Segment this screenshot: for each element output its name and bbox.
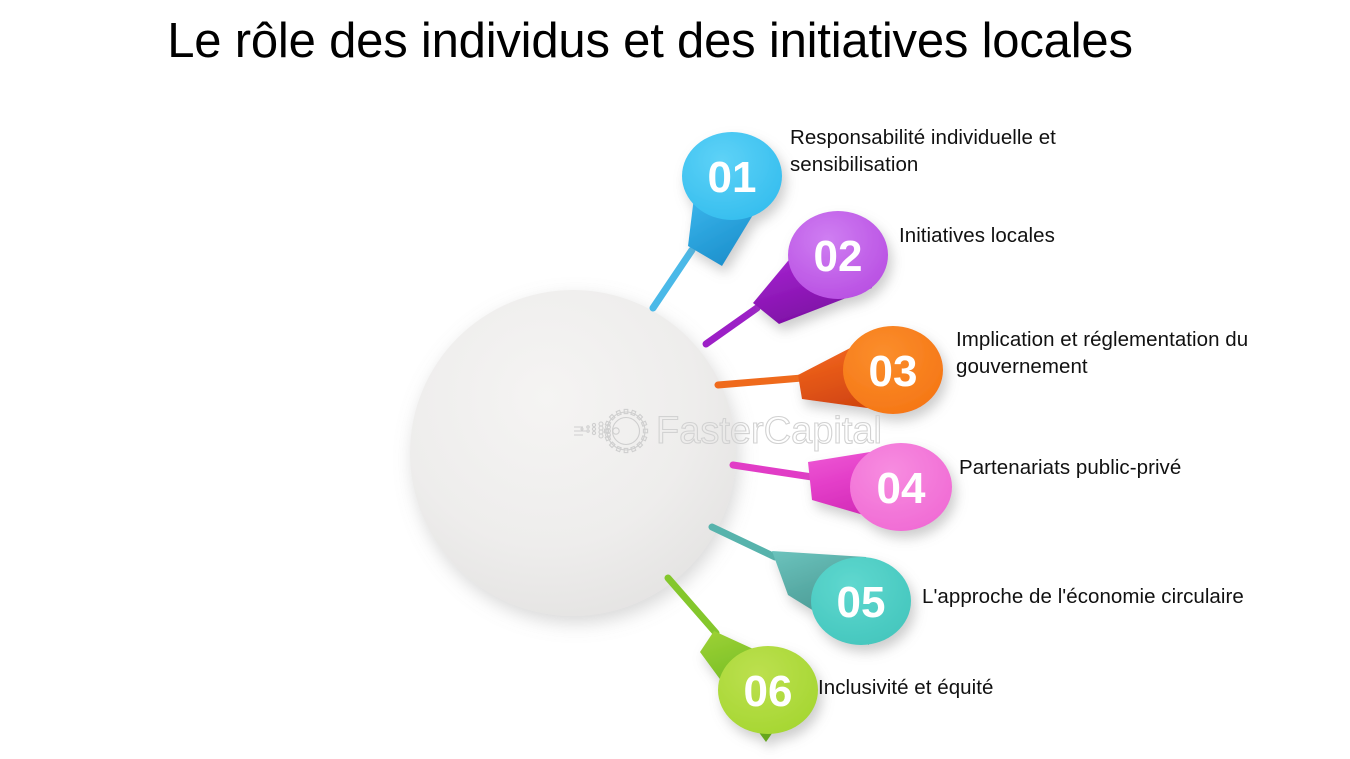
- callout-label-3: Implication et réglementation du gouvern…: [956, 326, 1316, 380]
- connector-line-3: [718, 378, 802, 385]
- cone-number-2: 02: [814, 232, 863, 281]
- callout-label-2: Initiatives locales: [899, 222, 1229, 249]
- callout-label-6: Inclusivité et équité: [818, 674, 1148, 701]
- central-circle: [410, 290, 736, 616]
- connector-line-6: [668, 578, 716, 633]
- connector-line-4: [733, 465, 812, 477]
- callout-label-5: L'approche de l'économie circulaire: [922, 583, 1322, 610]
- callout-label-4: Partenariats public-privé: [959, 454, 1299, 481]
- connector-line-1: [653, 250, 692, 308]
- cone-number-6: 06: [744, 667, 793, 716]
- connector-line-5: [712, 527, 775, 557]
- cone-number-1: 01: [708, 153, 757, 202]
- connector-line-2: [706, 308, 757, 344]
- cone-number-5: 05: [837, 578, 886, 627]
- cone-number-4: 04: [877, 464, 926, 513]
- cone-number-3: 03: [869, 347, 918, 396]
- slide-canvas: Le rôle des individus et des initiatives…: [0, 0, 1350, 759]
- callout-label-1: Responsabilité individuelle et sensibili…: [790, 124, 1120, 178]
